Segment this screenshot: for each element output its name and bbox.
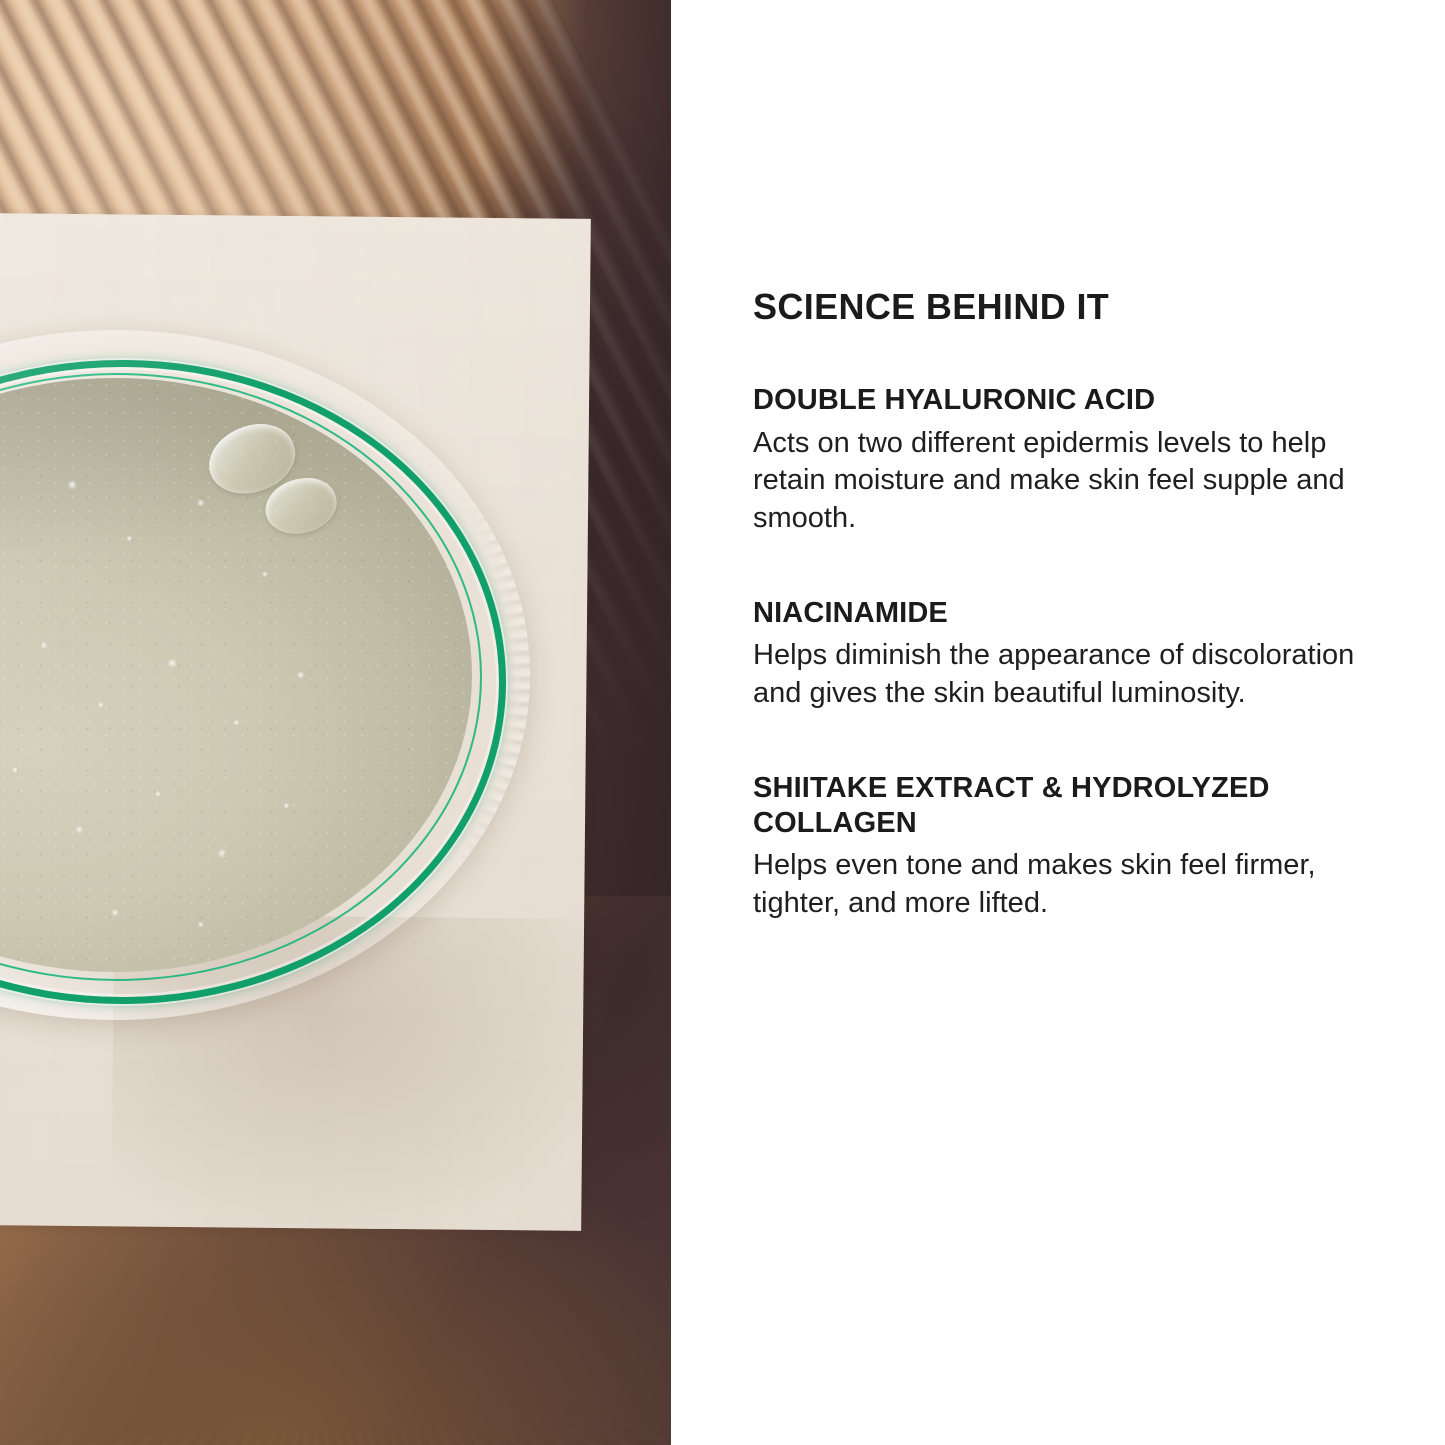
product-image-panel: [0, 0, 671, 1445]
ingredient-heading: NIACINAMIDE: [753, 596, 1373, 631]
product-science-panel: SCIENCE BEHIND IT DOUBLE HYALURONIC ACID…: [0, 0, 1445, 1445]
dish-cast-shadow: [111, 914, 591, 1230]
ingredient-section-double-hyaluronic-acid: DOUBLE HYALURONIC ACID Acts on two diffe…: [753, 383, 1373, 537]
science-text-panel: SCIENCE BEHIND IT DOUBLE HYALURONIC ACID…: [671, 0, 1445, 1445]
ingredient-description: Acts on two different epidermis levels t…: [753, 425, 1373, 538]
ingredient-section-shiitake-collagen: SHIITAKE EXTRACT & HYDROLYZED COLLAGEN H…: [753, 771, 1373, 923]
ingredient-description: Helps diminish the appearance of discolo…: [753, 637, 1373, 712]
cream-card: [0, 213, 591, 1231]
ingredient-section-niacinamide: NIACINAMIDE Helps diminish the appearanc…: [753, 596, 1373, 713]
page-title: SCIENCE BEHIND IT: [753, 286, 1373, 327]
ingredient-heading: DOUBLE HYALURONIC ACID: [753, 383, 1373, 418]
ingredient-description: Helps even tone and makes skin feel firm…: [753, 847, 1373, 922]
ingredient-heading: SHIITAKE EXTRACT & HYDROLYZED COLLAGEN: [753, 771, 1373, 842]
text-content-block: SCIENCE BEHIND IT DOUBLE HYALURONIC ACID…: [753, 286, 1373, 923]
